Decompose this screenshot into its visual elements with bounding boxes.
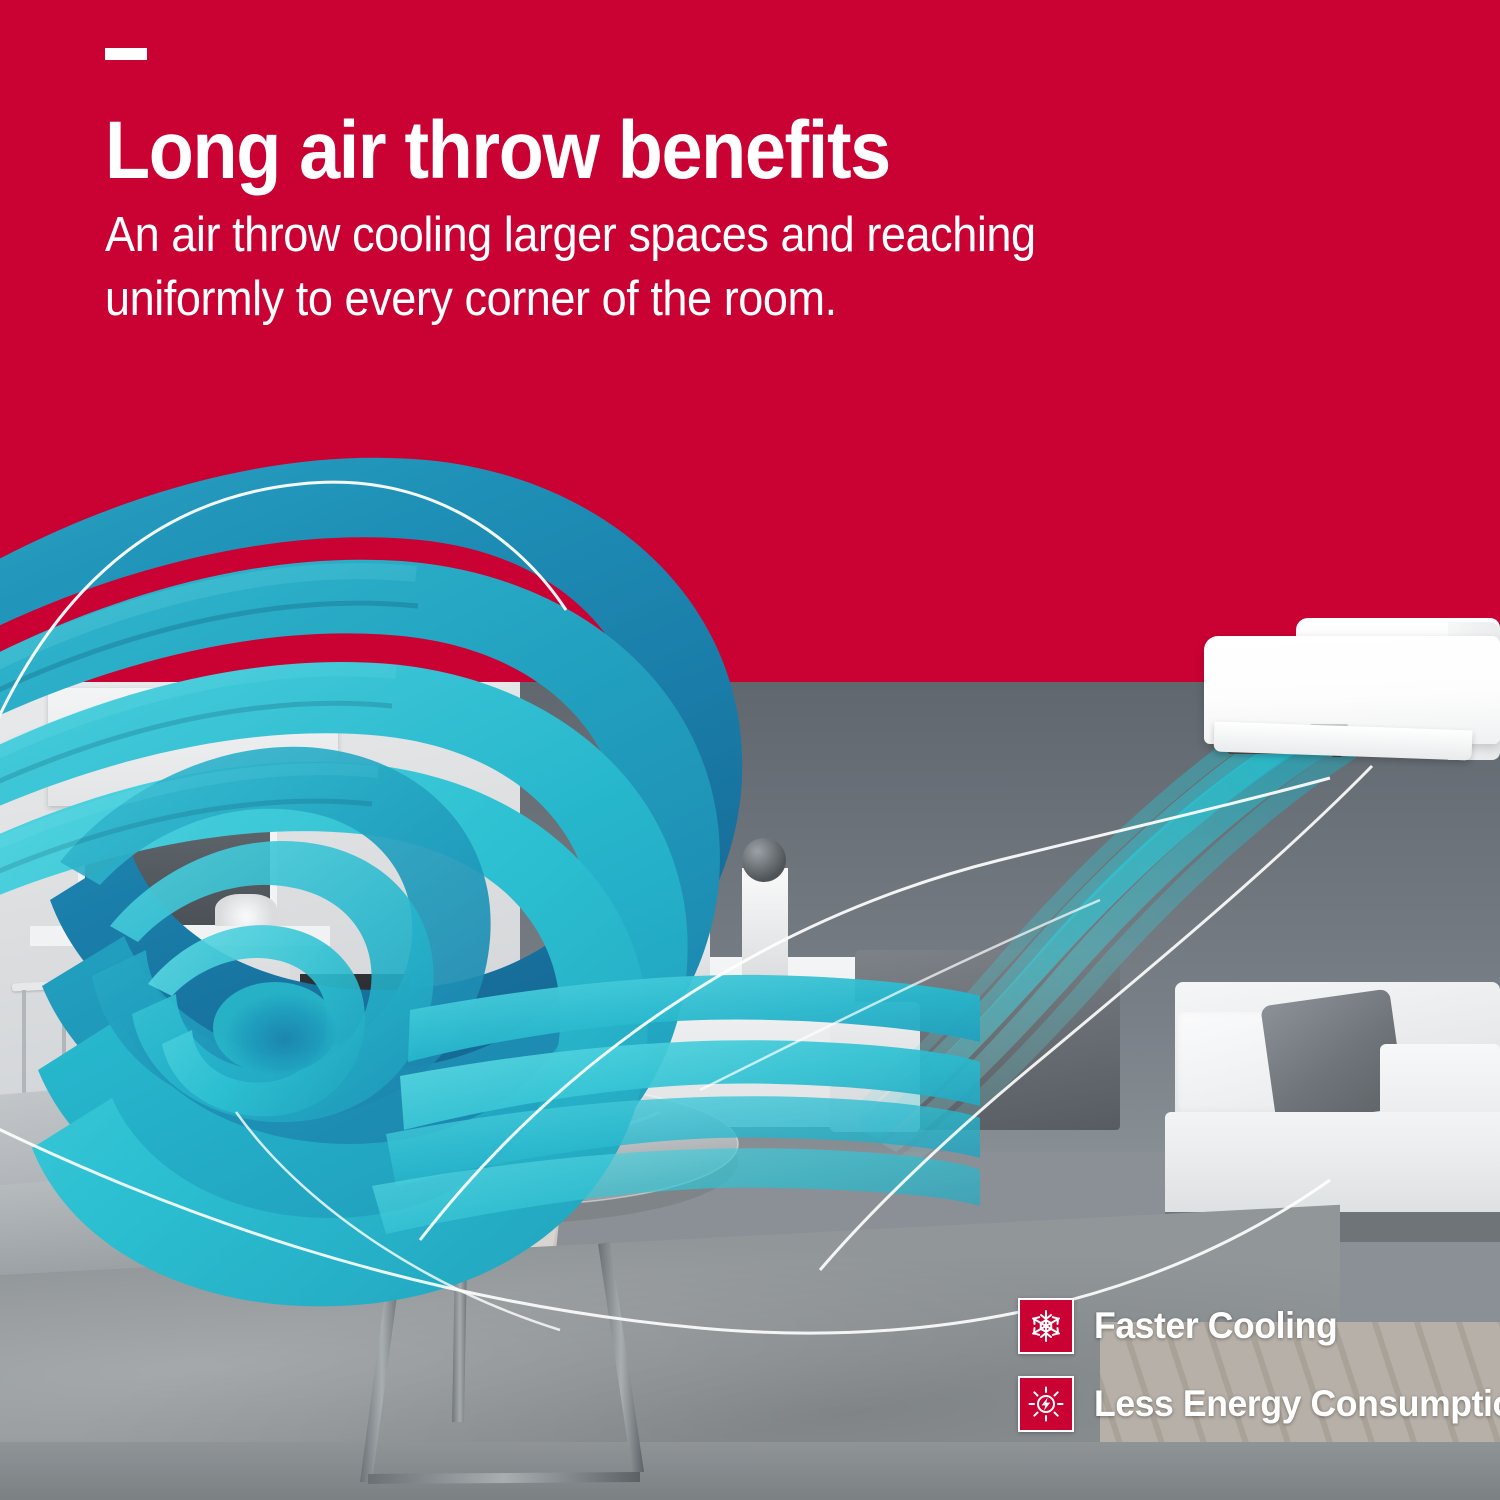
feature-badge-label: Less Energy Consumption	[1094, 1383, 1500, 1425]
dash-rule-icon	[105, 48, 147, 60]
product-feature-banner: Long air throw benefits An air throw coo…	[0, 0, 1500, 1500]
headline-block: Long air throw benefits An air throw coo…	[105, 48, 1355, 331]
feature-badge-less-energy[interactable]: Less Energy Consumption	[1018, 1376, 1500, 1432]
snowflake-icon	[1018, 1298, 1074, 1354]
page-title: Long air throw benefits	[105, 112, 1230, 190]
subtitle-line-2: uniformly to every corner of the room.	[105, 268, 1255, 332]
feature-badge-label: Faster Cooling	[1094, 1305, 1337, 1347]
subtitle-line-1: An air throw cooling larger spaces and r…	[105, 204, 1255, 268]
air-conditioner-unit	[1196, 614, 1500, 766]
feature-badge-list: Faster Cooling	[1018, 1298, 1500, 1432]
feature-badge-faster-cooling[interactable]: Faster Cooling	[1018, 1298, 1500, 1354]
energy-sun-icon	[1018, 1376, 1074, 1432]
